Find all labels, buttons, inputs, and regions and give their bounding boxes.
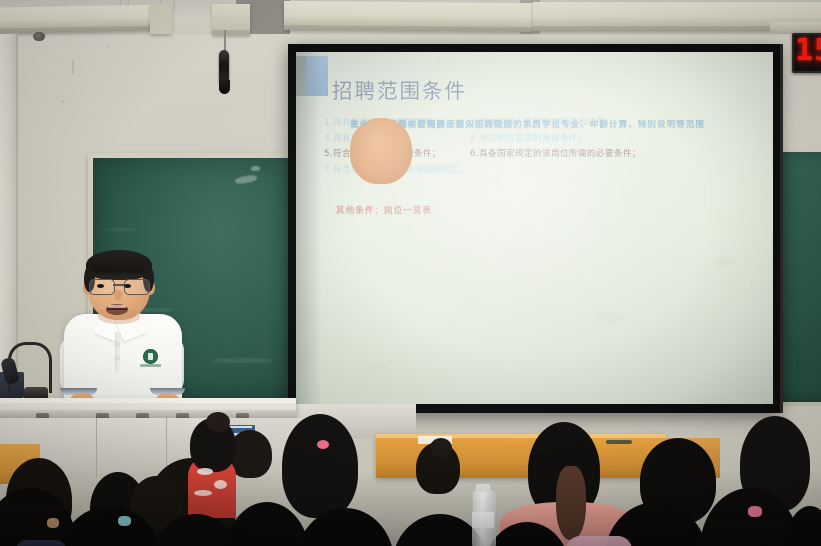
podium-top [0,398,296,403]
shirt-button [115,342,119,346]
hanging-microphone-cord [224,30,226,52]
wall-mark [72,60,74,74]
wall-mark [62,100,65,103]
ceiling-light-beam [150,4,172,34]
audience-head [282,414,358,518]
led-clock-digits: 15 [795,33,821,68]
audience [0,410,821,546]
water-bottle-label [472,512,494,528]
ceiling-light-beam [284,1,533,32]
presenter-shirt-placket [115,332,120,372]
projection-screen-frame: 招聘范围条件 一、基本条件： 1.具有中华人民共和国国籍； 2.遵守中华人民共和… [288,44,780,413]
audience-ponytail [556,466,586,540]
hair-tie [47,518,59,528]
presenter-eye [97,284,104,288]
blackboard-surface [782,152,821,402]
shirt-logo-icon [144,350,157,363]
lecture-hall-screenshot: 15 招聘范围条件 一、基本条件： 1.具有中华人民共和国国籍； 2.遵守中华人… [0,0,821,546]
wall-fitting [33,32,45,41]
hair-tie [748,506,762,517]
audience-hair-bun [430,438,452,458]
ceiling-light-beam [0,4,166,33]
wall-mark [107,46,109,48]
water-bottle-cap [476,484,490,492]
presenter-chin [98,310,140,324]
audience-hair-bun [206,412,230,432]
led-clock: 15 [792,33,821,73]
ceiling-wire [174,0,175,12]
shirt-button [115,356,119,360]
screen-vignette [296,52,773,404]
projection-screen[interactable]: 招聘范围条件 一、基本条件： 1.具有中华人民共和国国籍； 2.遵守中华人民共和… [296,52,773,404]
hair-tie [317,440,329,449]
shirt-logo-text [140,364,161,367]
hanging-microphone-head [219,80,230,94]
hair-tie [118,516,131,526]
presenter-eye [124,284,131,288]
ceiling-light-beam [212,4,250,35]
blackboard-right [778,148,821,406]
presenter-nose [114,290,122,300]
